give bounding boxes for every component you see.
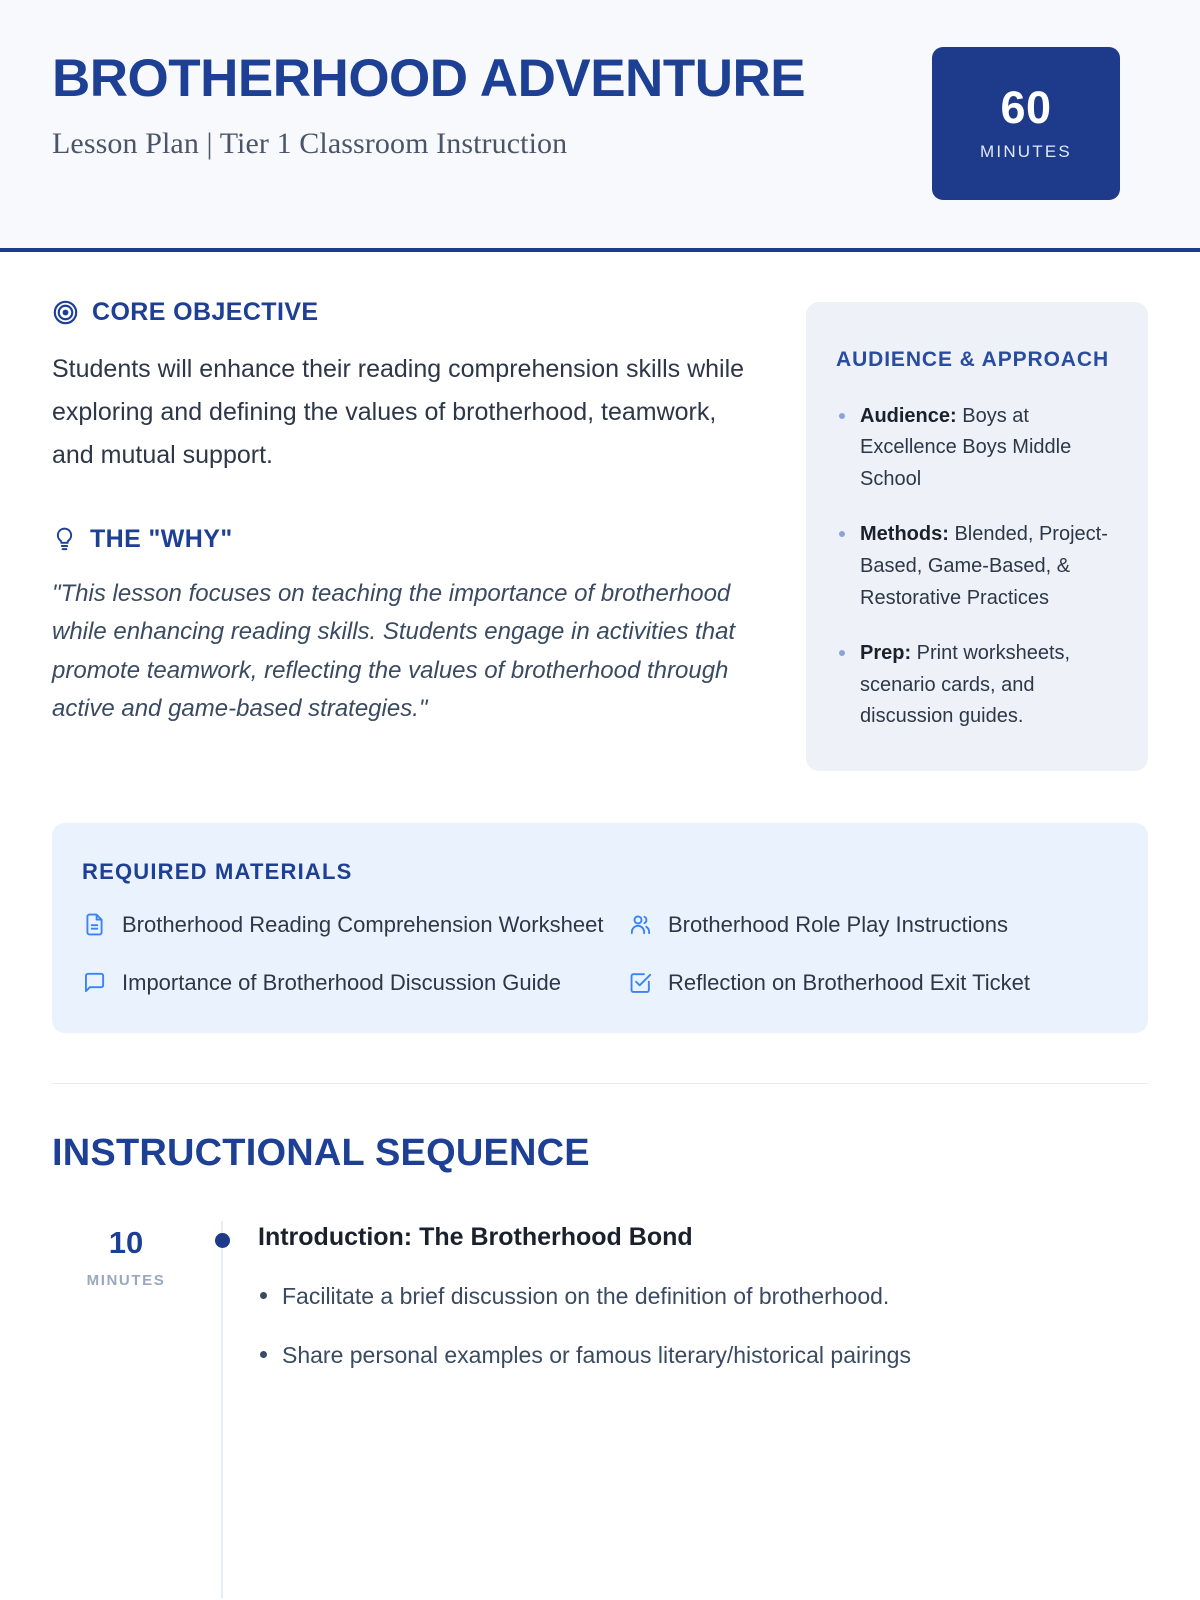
page-header: BROTHERHOOD ADVENTURE Lesson Plan | Tier… [0,0,1200,252]
list-item: Reflection on Brotherhood Exit Ticket [628,967,1118,999]
document-icon [82,912,107,937]
upper-columns: CORE OBJECTIVE Students will enhance the… [52,298,1148,771]
document-body: CORE OBJECTIVE Students will enhance the… [0,252,1200,1084]
section-divider [52,1083,1148,1084]
duration-value: 60 [1000,85,1051,130]
why-quote: "This lesson focuses on teaching the imp… [52,575,752,729]
step-duration-unit: MINUTES [52,1272,200,1289]
bullet-icon [839,413,845,419]
timeline-line [221,1221,223,1599]
why-header: THE "WHY" [52,525,752,554]
list-item: Share personal examples or famous litera… [258,1339,1148,1372]
bullet-icon [839,650,845,656]
list-item: Brotherhood Reading Comprehension Worksh… [82,909,612,941]
list-item: Prep: Print worksheets, scenario cards, … [836,638,1118,733]
material-label: Reflection on Brotherhood Exit Ticket [668,967,1030,999]
timeline-rail [200,1221,258,1399]
step-content: Introduction: The Brotherhood Bond Facil… [258,1221,1148,1399]
step-title: Introduction: The Brotherhood Bond [258,1223,1148,1252]
step-duration-value: 10 [52,1227,200,1258]
bullet-text: Share personal examples or famous litera… [282,1342,911,1368]
main-column: CORE OBJECTIVE Students will enhance the… [52,298,752,729]
checkbox-checked-icon [628,970,653,995]
duration-badge: 60 MINUTES [932,47,1120,200]
why-section: THE "WHY" "This lesson focuses on teachi… [52,525,752,729]
audience-approach-list: Audience: Boys at Excellence Boys Middle… [836,401,1118,733]
bullet-icon [260,1351,267,1358]
required-materials-card: REQUIRED MATERIALS Brotherhood Reading C… [52,823,1148,1033]
timeline-dot-icon [215,1233,230,1248]
bullet-icon [260,1292,267,1299]
material-label: Brotherhood Reading Comprehension Worksh… [122,909,603,941]
list-item: Methods: Blended, Project-Based, Game-Ba… [836,519,1118,614]
item-label: Audience: [860,405,957,427]
material-label: Brotherhood Role Play Instructions [668,909,1008,941]
bullet-text: Facilitate a brief discussion on the def… [282,1283,889,1309]
core-objective-header: CORE OBJECTIVE [52,298,752,327]
item-label: Methods: [860,523,949,545]
audience-approach-heading: AUDIENCE & APPROACH [836,344,1118,377]
why-heading: THE "WHY" [90,525,233,554]
sidebar-column: AUDIENCE & APPROACH Audience: Boys at Ex… [806,298,1148,771]
required-materials-heading: REQUIRED MATERIALS [82,859,1118,885]
sequence-step: 10 MINUTES Introduction: The Brotherhood… [52,1221,1148,1399]
materials-grid: Brotherhood Reading Comprehension Worksh… [82,909,1118,999]
list-item: Importance of Brotherhood Discussion Gui… [82,967,612,999]
instructional-sequence-section: INSTRUCTIONAL SEQUENCE 10 MINUTES Introd… [0,1132,1200,1399]
chat-bubble-icon [82,970,107,995]
audience-approach-card: AUDIENCE & APPROACH Audience: Boys at Ex… [806,302,1148,771]
list-item: Facilitate a brief discussion on the def… [258,1280,1148,1313]
instructional-sequence-heading: INSTRUCTIONAL SEQUENCE [52,1132,1148,1175]
material-label: Importance of Brotherhood Discussion Gui… [122,967,561,999]
item-label: Prep: [860,642,911,664]
people-icon [628,912,653,937]
list-item: Audience: Boys at Excellence Boys Middle… [836,401,1118,496]
core-objective-heading: CORE OBJECTIVE [92,298,318,327]
step-duration: 10 MINUTES [52,1221,200,1399]
lightbulb-icon [52,526,77,553]
core-objective-text: Students will enhance their reading comp… [52,348,752,477]
duration-unit: MINUTES [980,142,1072,162]
bullet-icon [839,531,845,537]
list-item: Brotherhood Role Play Instructions [628,909,1118,941]
target-icon [52,299,79,326]
step-bullet-list: Facilitate a brief discussion on the def… [258,1280,1148,1373]
